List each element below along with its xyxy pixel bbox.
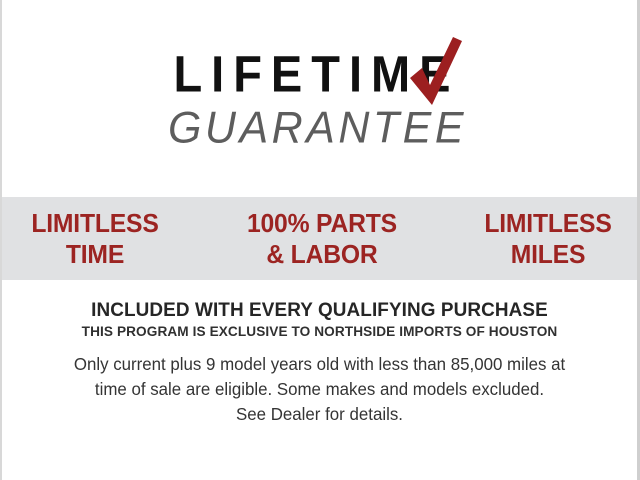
benefit-line-1: LIMITLESS: [31, 208, 158, 238]
benefit-line-1: LIMITLESS: [484, 208, 611, 238]
logo-lifetime-text: LIFETIME: [168, 48, 471, 99]
offer-headline: INCLUDED WITH EVERY QUALIFYING PURCHASE: [12, 299, 628, 322]
benefit-column-limitless-time: LIMITLESS TIME: [31, 208, 158, 268]
benefit-column-limitless-miles: LIMITLESS MILES: [484, 208, 611, 268]
benefit-line-1: 100% PARTS: [246, 208, 396, 238]
offer-disclaimer: Only current plus 9 model years old with…: [50, 352, 588, 427]
logo-guarantee-text: GUARANTEE: [168, 106, 471, 151]
benefit-line-2: MILES: [484, 239, 611, 269]
disclaimer-line: time of sale are eligible. Some makes an…: [50, 377, 588, 402]
benefit-band: LIMITLESS TIME 100% PARTS & LABOR LIMITL…: [2, 197, 637, 280]
benefit-column-parts-labor: 100% PARTS & LABOR: [246, 208, 396, 268]
logo-lockup: LIFETIME GUARANTEE: [168, 52, 471, 149]
offer-subheadline: THIS PROGRAM IS EXCLUSIVE TO NORTHSIDE I…: [15, 324, 625, 340]
benefit-line-2: & LABOR: [246, 239, 396, 269]
disclaimer-line: See Dealer for details.: [50, 402, 588, 427]
logo-block: LIFETIME GUARANTEE: [2, 52, 637, 149]
benefit-line-2: TIME: [31, 239, 158, 269]
lifetime-guarantee-ad: LIFETIME GUARANTEE LIMITLESS TIME 100% P…: [0, 0, 640, 480]
disclaimer-line: Only current plus 9 model years old with…: [50, 352, 588, 377]
